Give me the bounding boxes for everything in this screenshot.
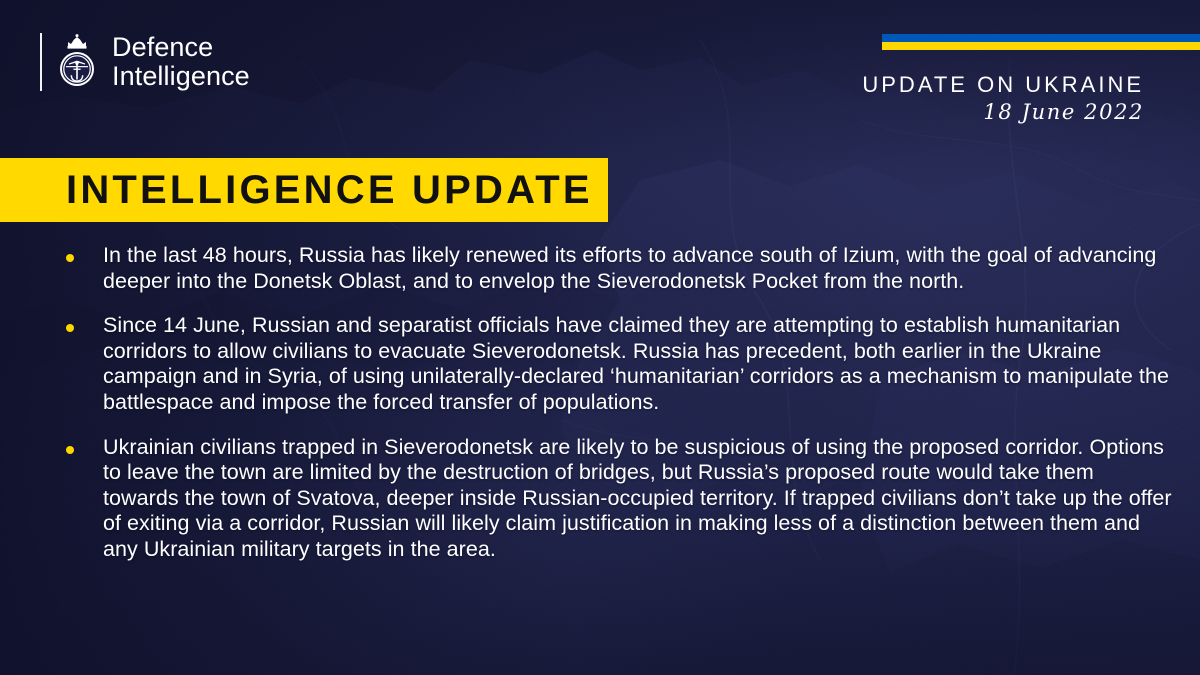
bullet-text: Since 14 June, Russian and separatist of… xyxy=(103,313,1172,415)
brand-lockup: Defence Intelligence xyxy=(40,30,250,94)
ukraine-flag-bar-icon xyxy=(882,34,1200,50)
defence-intelligence-crest-icon xyxy=(56,33,98,91)
intelligence-update-slide: Defence Intelligence UPDATE ON UKRAINE 1… xyxy=(0,0,1200,675)
bullet-dot-icon xyxy=(66,254,74,262)
flag-yellow-stripe xyxy=(882,42,1200,50)
update-date: 18 June 2022 xyxy=(983,100,1144,124)
bullet-dot-icon xyxy=(66,324,74,332)
update-title: UPDATE ON UKRAINE xyxy=(862,72,1144,98)
bullet-list: In the last 48 hours, Russia has likely … xyxy=(62,243,1172,563)
list-item: Since 14 June, Russian and separatist of… xyxy=(62,313,1172,415)
bullet-dot-icon xyxy=(66,446,74,454)
list-item: Ukrainian civilians trapped in Sieverodo… xyxy=(62,435,1172,563)
brand-divider xyxy=(40,33,42,91)
banner-title: INTELLIGENCE UPDATE xyxy=(66,168,593,213)
list-item: In the last 48 hours, Russia has likely … xyxy=(62,243,1172,294)
bullet-text: In the last 48 hours, Russia has likely … xyxy=(103,243,1172,294)
brand-name: Defence Intelligence xyxy=(112,33,250,91)
flag-blue-stripe xyxy=(882,34,1200,42)
bullet-text: Ukrainian civilians trapped in Sieverodo… xyxy=(103,435,1172,563)
intelligence-update-banner: INTELLIGENCE UPDATE xyxy=(0,158,608,222)
